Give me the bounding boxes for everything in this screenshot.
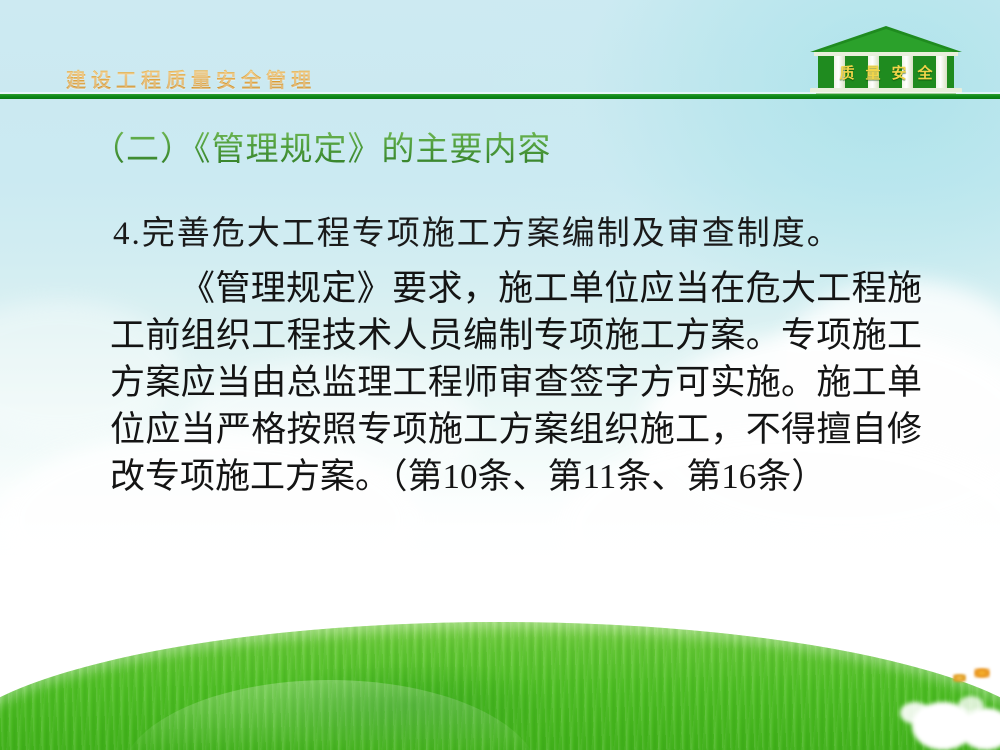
header-title: 建设工程质量安全管理 (66, 64, 316, 93)
grass-field-decoration (0, 620, 1000, 750)
organization-logo: 质量安全 (810, 26, 962, 98)
grass-shadow (260, 660, 560, 750)
flower-icon (974, 668, 990, 678)
slide-header: 建设工程质量安全管理 质量安全 (0, 0, 1000, 100)
logo-text: 质量安全 (810, 62, 962, 83)
content-heading: 4.完善危大工程专项施工方案编制及审查制度。 (113, 206, 842, 254)
header-divider (0, 94, 1000, 99)
slide-canvas: 建设工程质量安全管理 质量安全 （二）《管理规定》的主要内容 4.完善危大工程专… (0, 0, 1000, 750)
temple-roof-highlight-icon (818, 29, 954, 52)
content-paragraph: 《管理规定》要求，施工单位应当在危大工程施工前组织工程技术人员编制专项施工方案。… (110, 265, 922, 500)
flower-icon (953, 674, 966, 682)
section-title: （二）《管理规定》的主要内容 (92, 122, 552, 170)
